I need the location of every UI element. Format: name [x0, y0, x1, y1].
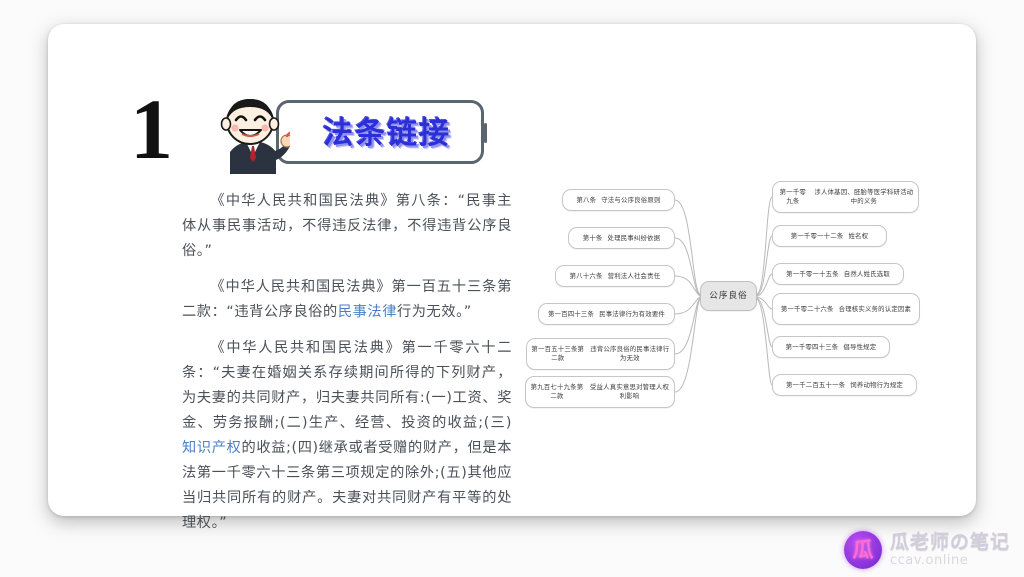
legal-paragraph-article-8: 《中华人民共和国民法典》第八条：“民事主体从事民事活动，不得违反法律，不得违背公… — [182, 189, 512, 264]
node-article: 第一百四十三条 — [548, 310, 594, 319]
node-article: 第一千二百五十一条 — [786, 381, 845, 390]
mindmap: 公序良俗 第八条 守法与公序良俗原则 第十条 处理民事纠纷依据 第八十六条 营利… — [520, 164, 950, 429]
node-desc: 民事法律行为有效要件 — [599, 310, 665, 319]
node-desc: 涉人体基因、胚胎等医学科研活动中的义务 — [814, 188, 914, 206]
mindmap-right-node-3[interactable]: 第一千零一十五条 自然人姓氏选取 — [772, 263, 904, 285]
mindmap-right-node-5[interactable]: 第一千零四十三条 倡导性规定 — [772, 336, 890, 358]
mindmap-left-node-2[interactable]: 第十条 处理民事纠纷依据 — [568, 227, 675, 249]
node-article: 第八十六条 — [570, 272, 603, 281]
section-banner: 法条链接 — [216, 96, 488, 174]
node-desc: 守法与公序良俗原则 — [601, 196, 660, 205]
watermark-title: 瓜老师の笔记 — [890, 533, 1010, 552]
node-desc: 姓名权 — [848, 232, 868, 241]
node-desc: 受益人真实意思对管理人权利影响 — [589, 383, 670, 401]
legal-text-run: 《中华人民共和国民法典》第一千零六十二条：“夫妻在婚姻关系存续期间所得的下列财产… — [182, 340, 512, 431]
slide-number: 1 — [130, 86, 171, 172]
legal-text-link[interactable]: 知识产权 — [182, 440, 241, 456]
node-desc: 违背公序良俗的民事法律行为无效 — [590, 345, 670, 363]
node-desc: 自然人姓氏选取 — [844, 270, 890, 279]
cartoon-lawyer-icon — [216, 96, 290, 174]
node-article: 第一千零一十二条 — [791, 232, 844, 241]
node-desc: 处理民事纠纷依据 — [608, 234, 661, 243]
banner-title: 法条链接 — [302, 108, 472, 152]
node-article: 第九百七十九条第二款 — [530, 383, 584, 401]
node-desc: 营利法人社会责任 — [608, 272, 661, 281]
watermark-logo-icon: 瓜 — [844, 531, 882, 569]
mindmap-left-node-3[interactable]: 第八十六条 营利法人社会责任 — [555, 265, 675, 287]
legal-paragraph-article-153-2: 《中华人民共和国民法典》第一百五十三条第二款：“违背公序良俗的民事法律行为无效。… — [182, 275, 512, 325]
legal-text-run: 行为无效。” — [397, 304, 472, 320]
legal-text-block: 《中华人民共和国民法典》第八条：“民事主体从事民事活动，不得违反法律，不得违背公… — [182, 189, 512, 547]
node-article: 第八条 — [576, 196, 596, 205]
node-article: 第一千零四十三条 — [786, 343, 839, 352]
legal-paragraph-article-1062: 《中华人民共和国民法典》第一千零六十二条：“夫妻在婚姻关系存续期间所得的下列财产… — [182, 336, 512, 536]
watermark-url: ccav.online — [890, 554, 1010, 567]
watermark-logo-glyph: 瓜 — [852, 540, 873, 561]
mindmap-right-node-1[interactable]: 第一千零九条 涉人体基因、胚胎等医学科研活动中的义务 — [772, 181, 919, 213]
watermark-texts: 瓜老师の笔记 ccav.online — [890, 533, 1010, 567]
node-desc: 倡导性规定 — [843, 343, 876, 352]
legal-text-run: 《中华人民共和国民法典》第八条：“民事主体从事民事活动，不得违反法律，不得违背公… — [182, 193, 512, 259]
mindmap-right-node-6[interactable]: 第一千二百五十一条 饲养动物行为规定 — [772, 374, 917, 396]
node-desc: 合理核实义务的认定因素 — [839, 305, 912, 314]
node-article: 第十条 — [583, 234, 603, 243]
node-article: 第一千零一十五条 — [786, 270, 839, 279]
watermark: 瓜 瓜老师の笔记 ccav.online — [844, 531, 1010, 569]
mindmap-left-node-6[interactable]: 第九百七十九条第二款 受益人真实意思对管理人权利影响 — [525, 376, 675, 408]
slide-card: 1 法条链接 — [48, 24, 976, 516]
mindmap-center-node[interactable]: 公序良俗 — [700, 281, 757, 311]
mindmap-center-label: 公序良俗 — [709, 292, 747, 301]
node-article: 第一千零九条 — [777, 188, 809, 206]
mindmap-left-node-4[interactable]: 第一百四十三条 民事法律行为有效要件 — [538, 303, 675, 325]
node-article: 第一千零二十六条 — [781, 305, 834, 314]
mindmap-right-node-4[interactable]: 第一千零二十六条 合理核实义务的认定因素 — [772, 293, 920, 325]
mindmap-right-node-2[interactable]: 第一千零一十二条 姓名权 — [772, 225, 887, 247]
node-article: 第一百五十三条第二款 — [531, 345, 585, 363]
node-desc: 饲养动物行为规定 — [850, 381, 903, 390]
mindmap-left-node-5[interactable]: 第一百五十三条第二款 违背公序良俗的民事法律行为无效 — [526, 338, 675, 370]
mindmap-left-node-1[interactable]: 第八条 守法与公序良俗原则 — [562, 189, 675, 211]
legal-text-link[interactable]: 民事法律 — [338, 304, 397, 320]
